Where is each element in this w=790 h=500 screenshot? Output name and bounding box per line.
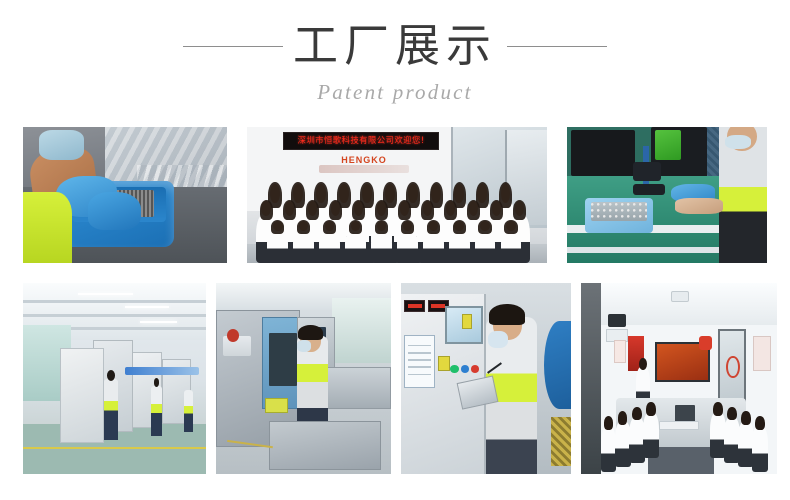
- page-title: 工厂展示: [291, 20, 499, 72]
- photo-packaging-scene: [23, 127, 227, 263]
- led-banner: 深圳市恒歌科技有限公司欢迎您!: [283, 132, 439, 150]
- photo-cnc-machining-scene: [216, 283, 391, 474]
- photo-gallery: 深圳市恒歌科技有限公司欢迎您! HENGKO: [23, 127, 767, 474]
- photo-meeting-room[interactable]: [581, 283, 777, 474]
- led-banner-text: 深圳市恒歌科技有限公司欢迎您!: [298, 137, 425, 146]
- photo-meeting-room-scene: [581, 283, 777, 474]
- photo-company-group-scene: 深圳市恒歌科技有限公司欢迎您! HENGKO: [247, 127, 547, 263]
- photo-production-line-scene: [23, 283, 206, 474]
- photo-qc-recording-scene: [401, 283, 571, 474]
- title-row: 工厂展示: [0, 18, 790, 74]
- section-header: 工厂展示 Patent product: [0, 18, 790, 105]
- divider-line-left: [183, 46, 283, 47]
- photo-packaging[interactable]: [23, 127, 227, 263]
- photo-microscope-inspection-scene: [567, 127, 767, 263]
- photo-cnc-machining[interactable]: [216, 283, 391, 474]
- meeting-attendees: [601, 359, 777, 474]
- divider-line-right: [507, 46, 607, 47]
- page-subtitle: Patent product: [0, 80, 790, 105]
- factory-showcase-page: 工厂展示 Patent product: [0, 0, 790, 500]
- photo-company-group[interactable]: 深圳市恒歌科技有限公司欢迎您! HENGKO: [247, 127, 547, 263]
- photo-qc-recording[interactable]: [401, 283, 571, 474]
- group-row-front: [253, 192, 541, 263]
- gallery-row-top: 深圳市恒歌科技有限公司欢迎您! HENGKO: [23, 127, 767, 263]
- photo-production-line[interactable]: [23, 283, 206, 474]
- photo-microscope-inspection[interactable]: [567, 127, 767, 263]
- gallery-row-bottom: [23, 283, 767, 474]
